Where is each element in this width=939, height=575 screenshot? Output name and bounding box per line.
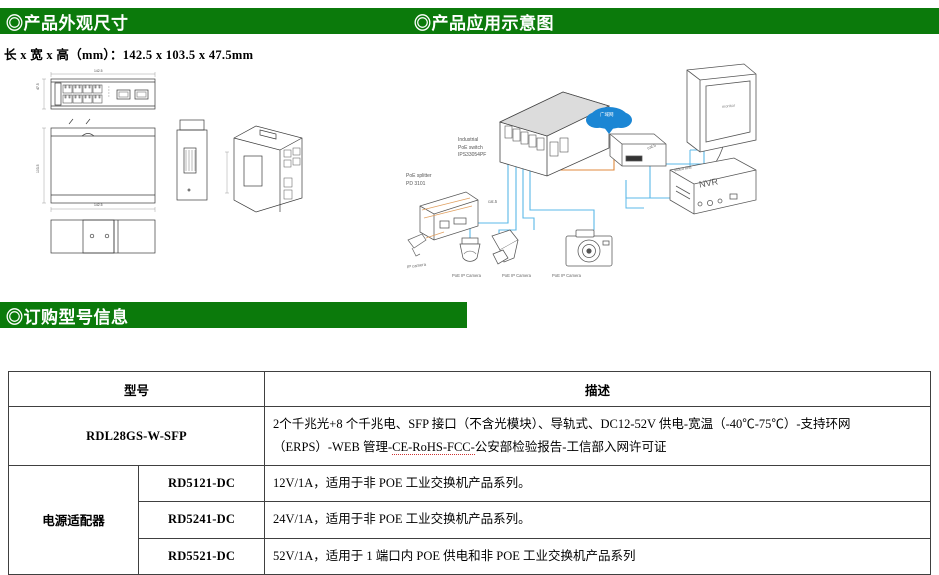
section-header-dimensions: ◎产品外观尺寸 bbox=[0, 8, 467, 34]
table-row-adapter-1: 电源适配器 RD5121-DC 12V/1A，适用于非 POE 工业交换机产品系… bbox=[9, 466, 931, 502]
table-row-adapter-2: RD5241-DC 24V/1A，适用于非 POE 工业交换机产品系列。 bbox=[9, 502, 931, 538]
section-header-dimensions-label: ◎产品外观尺寸 bbox=[6, 9, 129, 34]
desc-line-2c: 公安部检验报告-工信部入网许可证 bbox=[475, 440, 667, 454]
label-industrial-poe-switch: Industrial PoE switch IPS33054PF bbox=[458, 137, 486, 160]
dim-label-height: 47.5 bbox=[36, 83, 40, 90]
section-header-ordering: ◎订购型号信息 bbox=[0, 302, 467, 328]
column-header-description: 描述 bbox=[265, 372, 931, 407]
dimensions-text: 长 x 宽 x 高（mm）：142.5 x 103.5 x 47.5mm bbox=[4, 44, 253, 63]
dim-label-depth: 103.5 bbox=[36, 165, 40, 174]
dim-label-width-top: 142.5 bbox=[94, 69, 103, 73]
application-diagram-svg: monitor bbox=[404, 58, 939, 293]
cell-adapter-desc-3: 52V/1A，适用于 1 端口内 POE 供电和非 POE 工业交换机产品系列 bbox=[265, 538, 931, 574]
label-poe-ip-camera-2: PoE IP Camera bbox=[502, 273, 531, 278]
cell-adapter-desc-1: 12V/1A，适用于非 POE 工业交换机产品系列。 bbox=[265, 466, 931, 502]
table-header-row: 型号 描述 bbox=[9, 372, 931, 407]
label-poe-ip-camera-1: PoE IP Camera bbox=[452, 273, 481, 278]
desc-line-1: 2个千兆光+8 个千兆电、SFP 接口（不含光模块）、导轨式、DC12-52V … bbox=[273, 417, 851, 431]
cell-adapter-group-label: 电源适配器 bbox=[9, 466, 139, 574]
cell-adapter-model-1: RD5121-DC bbox=[139, 466, 265, 502]
section-header-application-label: ◎产品应用示意图 bbox=[414, 9, 554, 34]
label-poe-splitter: PoE splitter PD 3101 bbox=[406, 173, 432, 188]
label-cloud-wan: 广域网 bbox=[600, 112, 614, 118]
cell-model-main: RDL28GS-W-SFP bbox=[9, 407, 265, 466]
cell-adapter-model-3: RD5521-DC bbox=[139, 538, 265, 574]
cell-adapter-desc-2: 24V/1A，适用于非 POE 工业交换机产品系列。 bbox=[265, 502, 931, 538]
dim-label-width-bottom: 142.5 bbox=[94, 203, 103, 207]
table-row-main-product: RDL28GS-W-SFP 2个千兆光+8 个千兆电、SFP 接口（不含光模块）… bbox=[9, 407, 931, 466]
cell-description-main: 2个千兆光+8 个千兆电、SFP 接口（不含光模块）、导轨式、DC12-52V … bbox=[265, 407, 931, 466]
label-poe-ip-camera-3: PoE IP Camera bbox=[552, 273, 581, 278]
desc-line-2a: （ERPS）-WEB 管理- bbox=[273, 440, 392, 454]
table-row-adapter-3: RD5521-DC 52V/1A，适用于 1 端口内 POE 供电和非 POE … bbox=[9, 538, 931, 574]
dimension-drawing-svg bbox=[22, 68, 322, 263]
section-header-ordering-label: ◎订购型号信息 bbox=[6, 303, 129, 328]
desc-line-2b: CE-RoHS-FCC- bbox=[392, 440, 475, 455]
cell-adapter-model-2: RD5241-DC bbox=[139, 502, 265, 538]
label-cat5-left: cat.5 bbox=[488, 199, 497, 204]
ordering-information-table: 型号 描述 RDL28GS-W-SFP 2个千兆光+8 个千兆电、SFP 接口（… bbox=[8, 371, 931, 575]
application-topology-diagram: monitor Industrial PoE switch IPS33054PF bbox=[404, 58, 939, 293]
column-header-model: 型号 bbox=[9, 372, 265, 407]
section-header-application: ◎产品应用示意图 bbox=[408, 8, 939, 34]
product-dimension-drawings: 142.5 47.5 103.5 142.5 bbox=[22, 68, 322, 263]
